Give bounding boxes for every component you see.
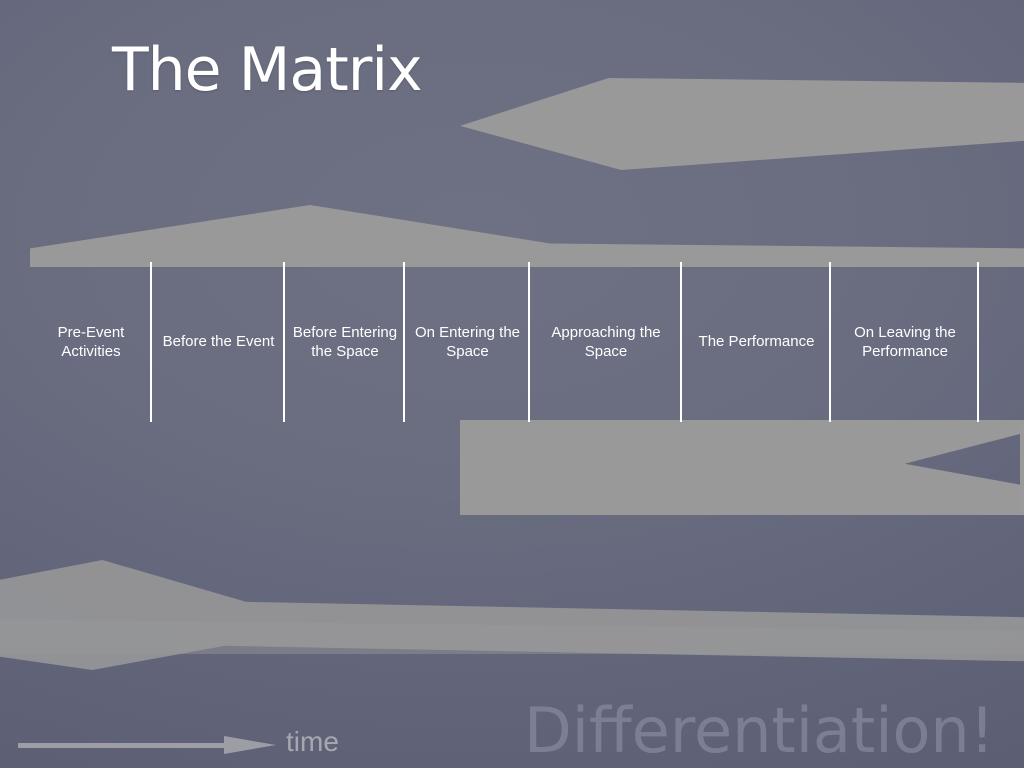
matrix-column-label: Before Entering the Space (291, 323, 399, 361)
matrix-column-label: Pre-Event Activities (36, 323, 146, 361)
matrix-column-label: On Leaving the Performance (837, 323, 973, 361)
matrix-column-pre-event-activities[interactable]: Pre-Event Activities (30, 262, 152, 422)
matrix-column-empty[interactable] (979, 262, 994, 422)
ribbon-shape-top (460, 78, 1024, 170)
matrix-column-label: On Entering the Space (411, 323, 524, 361)
time-arrow-icon (18, 736, 278, 754)
ribbon-shape-upper-middle (30, 205, 1024, 267)
page-title: The Matrix (112, 40, 422, 100)
matrix-column-before-the-event[interactable]: Before the Event (152, 262, 285, 422)
slide-canvas: The Matrix Pre-Event Activities Before t… (0, 0, 1024, 768)
ribbon-shape-lower-middle (460, 420, 1024, 515)
ribbon-shape-lower-middle-edge (1020, 420, 1024, 515)
matrix-column-label: The Performance (699, 332, 815, 351)
matrix-column-on-entering-the-space[interactable]: On Entering the Space (405, 262, 530, 422)
matrix-columns: Pre-Event Activities Before the Event Be… (30, 262, 994, 422)
matrix-column-label: Approaching the Space (536, 323, 676, 361)
matrix-column-on-leaving-the-performance[interactable]: On Leaving the Performance (831, 262, 979, 422)
matrix-column-approaching-the-space[interactable]: Approaching the Space (530, 262, 682, 422)
matrix-column-the-performance[interactable]: The Performance (682, 262, 831, 422)
time-arrow-shaft (18, 743, 230, 748)
time-axis-label: time (286, 728, 339, 756)
time-arrow-head (224, 736, 276, 754)
matrix-column-label: Before the Event (163, 332, 275, 351)
matrix-column-before-entering-the-space[interactable]: Before Entering the Space (285, 262, 405, 422)
background-word: Differentiation! (524, 700, 995, 762)
